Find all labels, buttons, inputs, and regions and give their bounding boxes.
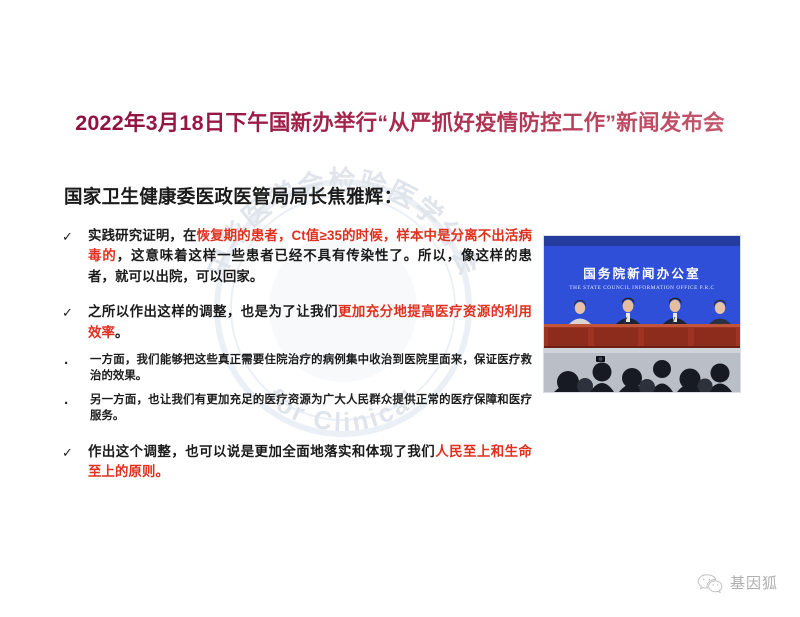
backdrop-title-en: THE STATE COUNCIL INFORMATION OFFICE P.R… [569,285,714,291]
wechat-icon [697,573,723,593]
bullet-run: ，这意味着这样一些患者已经不具有传染性了。所以，像这样的患者，就可以出院，可以回… [88,248,532,283]
bullet-text: 之所以作出这样的调整，也是为了让我们更加充分地提高医疗资源的利用效率。 [88,302,532,343]
dot-mark-icon: · [62,352,90,375]
account-watermark: 基因狐 [697,572,778,593]
slide-title: 2022年3月18日下午国新办举行“从严抓好疫情防控工作”新闻发布会 [75,106,725,137]
sub-bullet-text: 一方面，我们能够把这些真正需要住院治疗的病例集中收治到医院里面来，保证医疗救治的… [90,352,532,385]
check-mark-icon: ✓ [62,226,88,247]
check-mark-icon: ✓ [62,302,88,323]
bullet-item: ✓ 实践研究证明，在恢复期的患者，Ct值≥35的时候，样本中是分离不出活病毒的，… [62,226,532,287]
press-conference-photo: 国务院新闻办公室 THE STATE COUNCIL INFORMATION O… [543,235,741,393]
bullet-item: ✓ 之所以作出这样的调整，也是为了让我们更加充分地提高医疗资源的利用效率。 [62,302,532,343]
bullet-run: 实践研究证明，在 [88,228,197,243]
sub-bullet-text: 另一方面，也让我们有更加充足的医疗资源为广大人民群众提供正常的医疗保障和医疗服务… [90,392,532,425]
bullet-run: 之所以作出这样的调整，也是为了让我们 [88,304,338,319]
bullet-text: 作出这个调整，也可以说是更加全面地落实和体现了我们人民至上和生命至上的原则。 [88,442,532,483]
dot-mark-icon: · [62,392,90,415]
sub-bullet-item: · 一方面，我们能够把这些真正需要住院治疗的病例集中收治到医院里面来，保证医疗救… [62,352,532,385]
account-name: 基因狐 [730,572,778,593]
bullet-text: 实践研究证明，在恢复期的患者，Ct值≥35的时候，样本中是分离不出活病毒的，这意… [88,226,532,287]
bullet-item: ✓ 作出这个调整，也可以说是更加全面地落实和体现了我们人民至上和生命至上的原则。 [62,442,532,483]
check-mark-icon: ✓ [62,442,88,463]
presentation-slide: 中华医学会检验医学分会 for Clinical 2022年3月18日下午国新办… [0,0,800,617]
slide-body: ✓ 实践研究证明，在恢复期的患者，Ct值≥35的时候，样本中是分离不出活病毒的，… [62,226,532,492]
sub-bullet-item: · 另一方面，也让我们有更加充足的医疗资源为广大人民群众提供正常的医疗保障和医疗… [62,392,532,425]
slide-title-band: 2022年3月18日下午国新办举行“从严抓好疫情防控工作”新闻发布会 [0,103,800,139]
backdrop-title-cn: 国务院新闻办公室 [583,266,701,281]
speaker-name-line: 国家卫生健康委医政医管局局长焦雅辉： [64,183,402,209]
bullet-run: 作出这个调整，也可以说是更加全面地落实和体现了我们 [88,444,435,459]
bullet-run: 。 [115,325,129,340]
